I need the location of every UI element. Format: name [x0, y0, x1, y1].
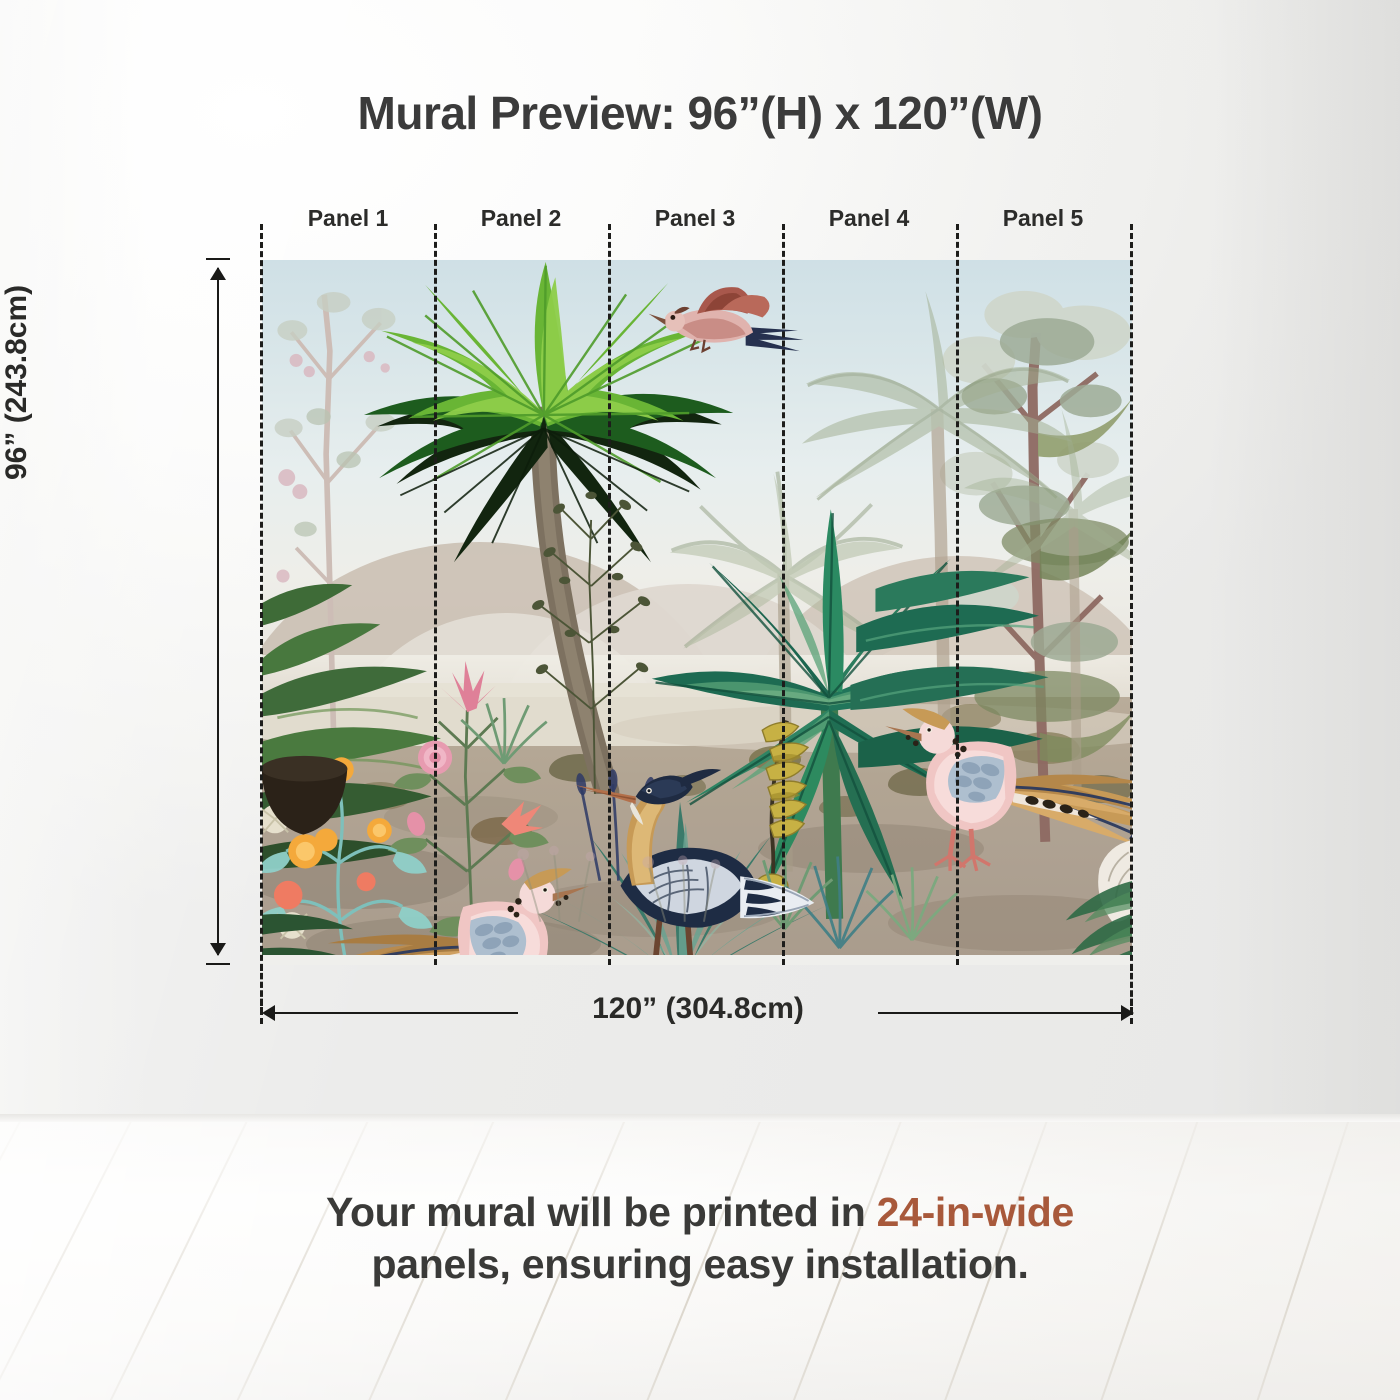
height-arrow-up: [210, 267, 226, 280]
height-dimension-arrow: [196, 258, 240, 965]
mural-bird-flying: [642, 282, 812, 366]
wall-shade-left: [0, 0, 150, 1122]
height-dimension-label: 96” (243.8cm): [0, 285, 34, 480]
panel-label-3: Panel 3: [605, 205, 785, 232]
panel-label-5: Panel 5: [953, 205, 1133, 232]
mural-background-shrubs: [502, 808, 752, 924]
panel-edge-right: [1130, 224, 1133, 1024]
panel-divider-3-4: [782, 224, 785, 965]
wall-shade-right: [1210, 0, 1400, 1122]
caption-line-2: panels, ensuring easy installation.: [0, 1238, 1400, 1290]
panel-label-4: Panel 4: [779, 205, 959, 232]
page-title: Mural Preview: 96”(H) x 120”(W): [0, 86, 1400, 140]
height-dimension-line: [217, 268, 219, 955]
height-arrow-down: [210, 943, 226, 956]
panel-label-2: Panel 2: [431, 205, 611, 232]
caption-highlight: 24-in-wide: [877, 1189, 1074, 1235]
width-dimension-label: 120” (304.8cm): [262, 992, 1134, 1026]
mural-bottom-left-foliage: [262, 888, 400, 965]
panel-label-1: Panel 1: [258, 205, 438, 232]
panel-divider-1-2: [434, 224, 437, 965]
height-tick-top: [206, 258, 230, 260]
mural-bottom-right-foliage: [952, 860, 1132, 965]
panel-edge-left: [260, 224, 263, 1024]
caption-line-1: Your mural will be printed in 24-in-wide: [0, 1186, 1400, 1238]
mural-artwork: [262, 260, 1132, 965]
mural-bottom-fade: [262, 955, 1132, 965]
panel-divider-2-3: [608, 224, 611, 965]
mural-grass-tuft: [454, 692, 554, 766]
caption-line-1-text: Your mural will be printed in: [326, 1189, 877, 1235]
panel-divider-4-5: [956, 224, 959, 965]
installation-caption: Your mural will be printed in 24-in-wide…: [0, 1186, 1400, 1291]
mural-preview-container: Panel 1 Panel 2 Panel 3 Panel 4 Panel 5: [262, 260, 1132, 965]
height-tick-bottom: [206, 963, 230, 965]
mural-dark-planter: [262, 732, 362, 842]
